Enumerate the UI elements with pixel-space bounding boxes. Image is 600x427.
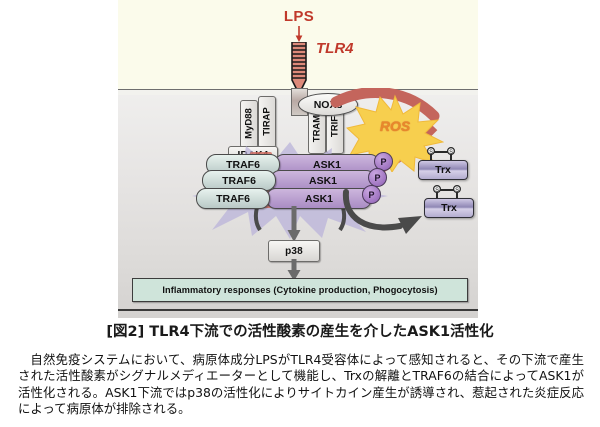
lps-arrow-icon bbox=[294, 26, 304, 42]
lps-label: LPS bbox=[269, 8, 329, 25]
body-paragraph: 自然免疫システムにおいて、病原体成分LPSがTLR4受容体によって感知されると、… bbox=[18, 352, 584, 418]
trx-box-upper: Trx bbox=[418, 160, 468, 180]
tlr4-label: TLR4 bbox=[316, 40, 354, 57]
figure-caption: [図2] TLR4下流での活性酸素の産生を介したASK1活性化 bbox=[0, 320, 600, 341]
body-text: 自然免疫システムにおいて、病原体成分LPSがTLR4受容体によって感知されると、… bbox=[18, 352, 584, 418]
traf6-pill-front: TRAF6 bbox=[196, 188, 270, 209]
trx-dissociation-arrow bbox=[340, 188, 436, 240]
svg-text:S: S bbox=[429, 150, 433, 156]
svg-text:S: S bbox=[449, 150, 453, 156]
tlr4-receptor-icon bbox=[287, 42, 311, 94]
figure-panel: LPS TLR4 MyD88 TIRAP TRAM TRIF NOXs bbox=[118, 0, 478, 318]
svg-text:S: S bbox=[455, 188, 459, 194]
outcome-box: Inflammatory responses (Cytokine product… bbox=[132, 278, 468, 302]
trx-upper-group: S S Trx bbox=[417, 146, 469, 180]
ask1-to-p38-arrow bbox=[286, 206, 302, 242]
caption-divider bbox=[118, 309, 478, 311]
